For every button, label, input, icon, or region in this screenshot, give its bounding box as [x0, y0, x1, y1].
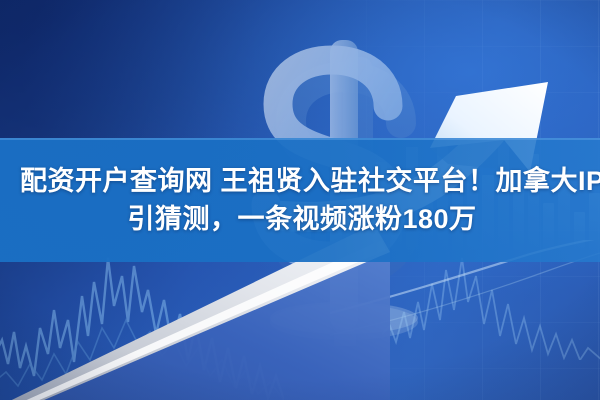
headline-line-2: 引猜测，一条视频涨粉180万 [123, 202, 476, 236]
headline-line-1: 配资开户查询网 王祖贤入驻社交平台！加拿大IP [0, 164, 600, 198]
headline-block: 配资开户查询网 王祖贤入驻社交平台！加拿大IP 引猜测，一条视频涨粉180万 [0, 140, 600, 260]
banner-image: 配资开户查询网 王祖贤入驻社交平台！加拿大IP 引猜测，一条视频涨粉180万 [0, 0, 600, 400]
